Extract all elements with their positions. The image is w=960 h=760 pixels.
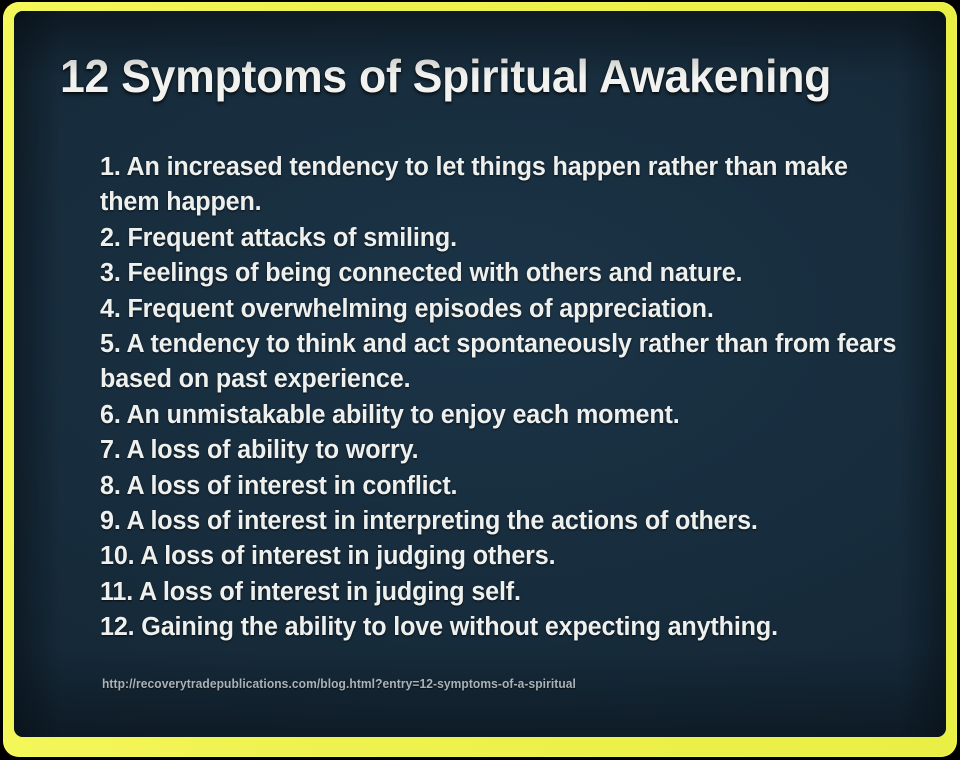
list-item: 3. Feelings of being connected with othe… xyxy=(100,256,898,291)
list-item: 8. A loss of interest in conflict. xyxy=(100,469,898,504)
list-item: 4. Frequent overwhelming episodes of app… xyxy=(100,292,898,327)
list-item: 7. A loss of ability to worry. xyxy=(100,433,898,468)
source-url-text: http://recoverytradepublications.com/blo… xyxy=(102,677,576,691)
list-item: 11. A loss of interest in judging self. xyxy=(100,575,898,610)
poster-card: 12 Symptoms of Spiritual Awakening 1. An… xyxy=(14,11,946,737)
poster-image: 12 Symptoms of Spiritual Awakening 1. An… xyxy=(0,0,960,760)
list-item: 9. A loss of interest in interpreting th… xyxy=(100,504,898,539)
list-item: 12. Gaining the ability to love without … xyxy=(100,610,898,645)
list-item: 10. A loss of interest in judging others… xyxy=(100,539,898,574)
symptom-list: 1. An increased tendency to let things h… xyxy=(100,150,910,646)
list-item: 1. An increased tendency to let things h… xyxy=(100,150,898,221)
list-item: 5. A tendency to think and act spontaneo… xyxy=(100,327,898,398)
list-item: 2. Frequent attacks of smiling. xyxy=(100,221,898,256)
page-title: 12 Symptoms of Spiritual Awakening xyxy=(60,49,831,103)
list-item: 6. An unmistakable ability to enjoy each… xyxy=(100,398,898,433)
